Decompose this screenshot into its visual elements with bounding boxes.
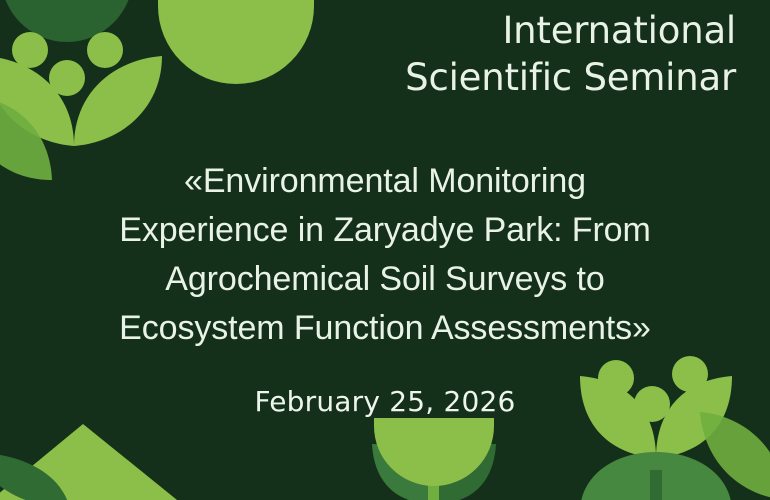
seminar-title-line-2: Experience in Zaryadye Park: From [12,206,758,255]
seminar-title-line-1: «Environmental Monitoring [12,157,758,206]
poster-text-layer: International Scientific Seminar «Enviro… [0,0,770,500]
seminar-title-line-4: Ecosystem Function Assessments» [12,304,758,353]
seminar-title-line-3: Agrochemical Soil Surveys to [12,255,758,304]
seminar-heading: International Scientific Seminar [276,8,736,101]
seminar-poster: International Scientific Seminar «Enviro… [0,0,770,500]
seminar-title: «Environmental Monitoring Experience in … [12,157,758,353]
seminar-heading-line-1: International [276,8,736,55]
seminar-heading-line-2: Scientific Seminar [276,55,736,102]
seminar-date: February 25, 2026 [12,385,758,418]
